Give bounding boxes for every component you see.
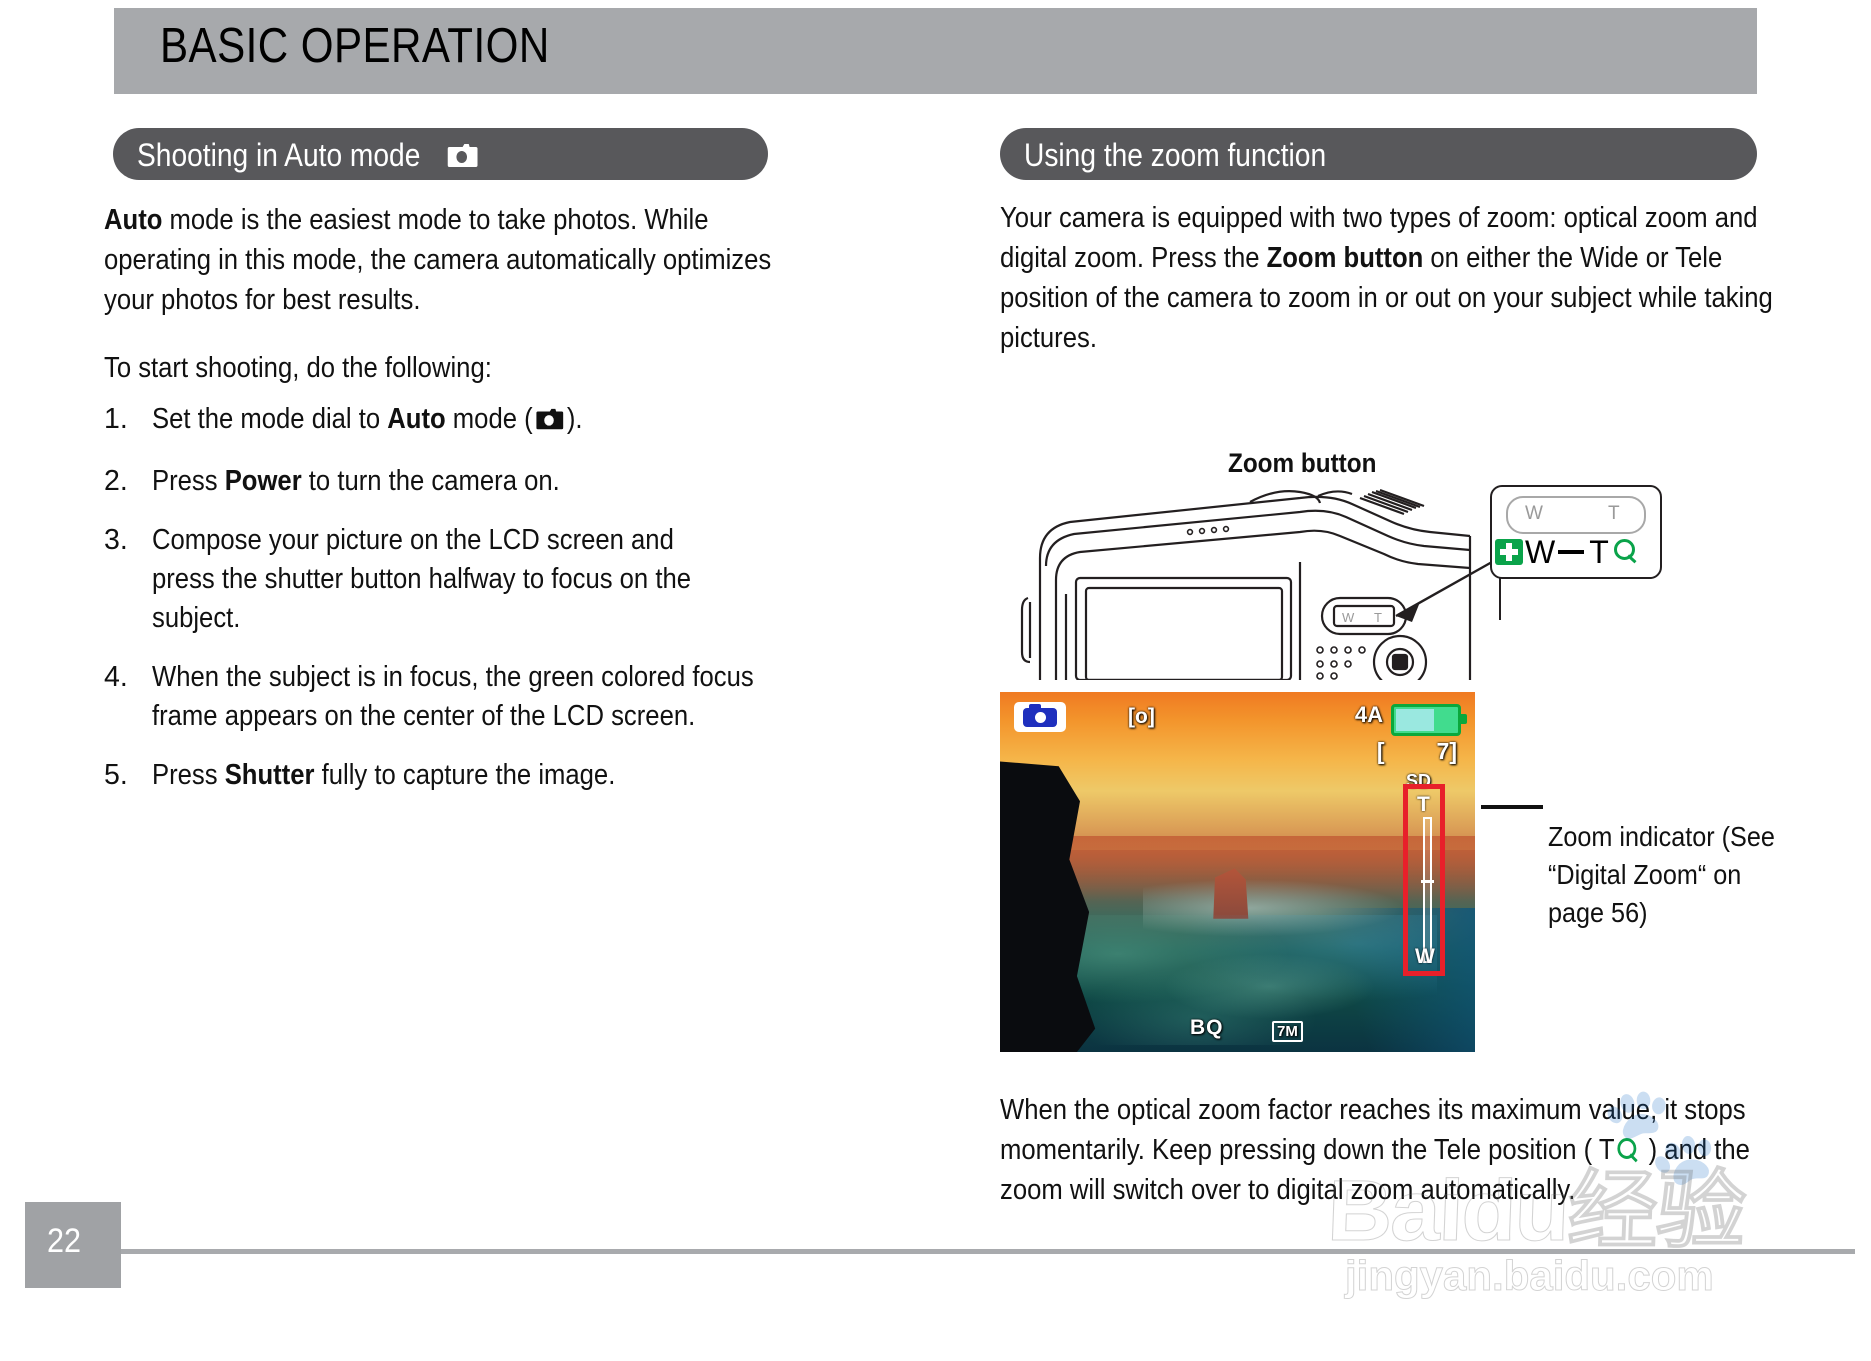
step-text-pre: Press [152, 759, 225, 791]
step-text-pre: Press [152, 465, 225, 497]
zoom-indicator-wide-label: W [1415, 945, 1435, 969]
list-item: 5. Press Shutter fully to capture the im… [104, 756, 804, 795]
zoom-indicator-bar [1423, 817, 1432, 963]
section-header-shooting-auto-label: Shooting in Auto mode [137, 137, 477, 177]
tele-letter: T [1608, 503, 1620, 525]
section-header-zoom-function-label: Using the zoom function [1024, 137, 1326, 174]
list-item: 4. When the subject is in focus, the gre… [104, 658, 804, 736]
zoom-legend-tele: T [1589, 536, 1609, 568]
zoom-legend-dash [1558, 550, 1584, 554]
steps-lead-in: To start shooting, do the following: [104, 348, 794, 388]
step-text-post: to turn the camera on. [302, 465, 560, 497]
step-text-pre: Compose your picture on the LCD screen a… [152, 521, 737, 638]
step-number: 2. [104, 462, 128, 501]
zoom-indicator-caption-text: Zoom indicator (See “Digital Zoom“ on pa… [1548, 818, 1782, 932]
footer-divider [121, 1249, 1855, 1254]
auto-mode-intro-rest: mode is the easiest mode to take photos.… [104, 204, 771, 316]
watermark-sub: jingyan.baidu.com [1345, 1252, 1714, 1300]
zoom-indicator-leader-line [1481, 805, 1543, 809]
step-text-bold: Shutter [225, 759, 315, 791]
shots-bracket-open: [ [1377, 738, 1385, 764]
step-number: 4. [104, 658, 128, 697]
zoom-intro-paragraph: Your camera is equipped with two types o… [1000, 198, 1800, 358]
flash-auto-icon: 4A [1355, 704, 1383, 726]
lcd-terrain-texture [1038, 915, 1437, 1045]
step-text-post: fully to capture the image. [314, 759, 615, 791]
resolution-indicator: 7M [1272, 1021, 1303, 1042]
page-number: 22 [47, 1222, 81, 1261]
auto-mode-intro-paragraph: Auto mode is the easiest mode to take ph… [104, 200, 794, 320]
resolution-value: 7M [1272, 1021, 1303, 1042]
step-text-pre: Set the mode dial to [152, 403, 387, 435]
zoom-legend-row: W T [1492, 532, 1658, 572]
auto-mode-intro-bold: Auto [104, 204, 162, 236]
camera-mode-icon [1014, 702, 1066, 732]
step-number: 3. [104, 521, 128, 560]
camera-icon [448, 140, 478, 177]
battery-full-icon [1391, 704, 1461, 736]
step-text-pre: When the subject is in focus, the green … [152, 658, 755, 736]
step-text-bold: Power [225, 465, 302, 497]
shooting-steps-list: 1. Set the mode dial to Auto mode ( ). 2… [104, 400, 804, 815]
tele-symbol: T [1599, 1134, 1615, 1166]
list-item: 3. Compose your picture on the LCD scree… [104, 521, 804, 638]
zoom-rocker-graphic: W T [1506, 496, 1646, 534]
step-number: 1. [104, 400, 128, 439]
zoom-indicator-tele-label: T [1417, 793, 1430, 817]
step-text-tail: ). [567, 403, 583, 435]
shots-remaining: [7] [1377, 740, 1457, 763]
section-header-shooting-auto-text: Shooting in Auto mode [137, 137, 420, 173]
svg-text:T: T [1374, 610, 1382, 625]
section-header-shooting-auto: Shooting in Auto mode [113, 128, 768, 180]
list-item: 2. Press Power to turn the camera on. [104, 462, 804, 501]
step-text-bold: Auto [387, 403, 445, 435]
zoom-intro-bold: Zoom button [1267, 242, 1424, 274]
zoom-indicator-midpoint [1421, 880, 1434, 883]
section-header-zoom-function: Using the zoom function [1000, 128, 1757, 180]
manual-page: BASIC OPERATION Shooting in Auto mode Us… [0, 0, 1871, 1361]
digital-zoom-paragraph: When the optical zoom factor reaches its… [1000, 1090, 1790, 1210]
green-plus-icon [1495, 539, 1523, 565]
zoom-indicator-caption: Zoom indicator (See “Digital Zoom“ on pa… [1548, 818, 1798, 932]
steps-lead-in-text: To start shooting, do the following: [104, 348, 793, 388]
zoom-legend-wide: W [1525, 536, 1555, 568]
step-number: 5. [104, 756, 128, 795]
zoom-indicator-highlight: T W [1403, 784, 1445, 976]
image-quality-indicator: BQ [1190, 1017, 1224, 1038]
lcd-screen-preview: [o] 4A [7] SD BQ 7M T W [1000, 692, 1475, 1052]
page-title: BASIC OPERATION [160, 18, 550, 74]
step-text-post: mode ( [446, 403, 533, 435]
shots-count: 7] [1437, 738, 1457, 764]
af-area-icon: [o] [1128, 706, 1155, 727]
green-magnifier-icon [1616, 1138, 1639, 1164]
camera-back-illustration: W T [1000, 470, 1560, 680]
camera-icon [536, 403, 563, 442]
svg-text:W: W [1342, 610, 1355, 625]
wide-letter: W [1525, 503, 1543, 525]
green-magnifier-icon [1613, 539, 1639, 565]
list-item: 1. Set the mode dial to Auto mode ( ). [104, 400, 804, 442]
